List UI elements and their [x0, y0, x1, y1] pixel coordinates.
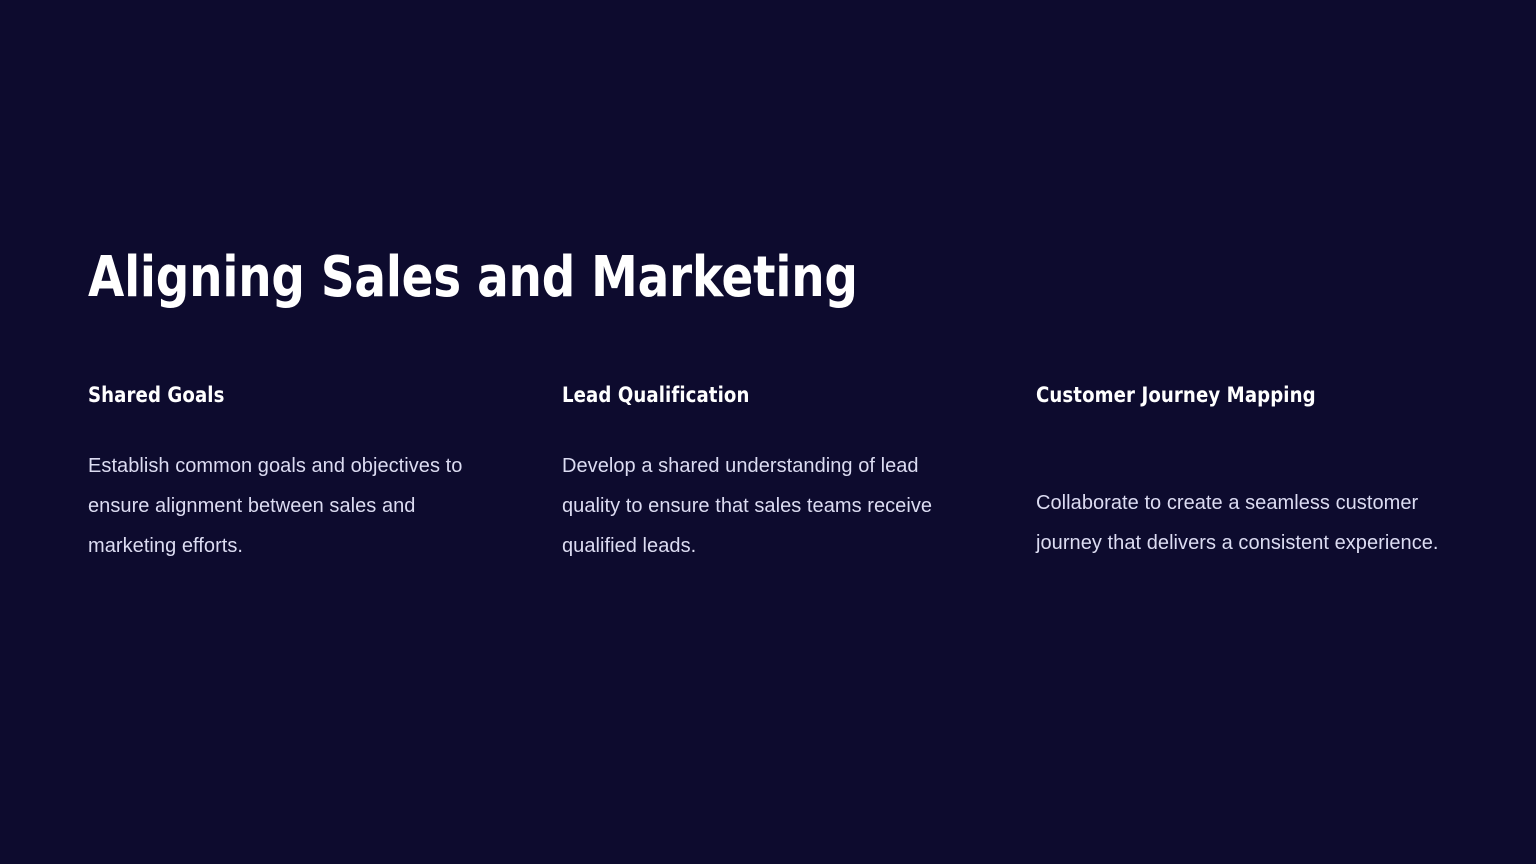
column-heading-shared-goals: Shared Goals	[88, 382, 482, 408]
column-body-lead-qualification: Develop a shared understanding of lead q…	[562, 446, 972, 566]
content-columns: Shared Goals Establish common goals and …	[88, 382, 1468, 566]
column-heading-customer-journey-mapping: Customer Journey Mapping	[1036, 382, 1430, 408]
column-body-shared-goals: Establish common goals and objectives to…	[88, 446, 498, 566]
column-body-customer-journey-mapping: Collaborate to create a seamless custome…	[1036, 483, 1446, 563]
content-column-lead-qualification: Lead Qualification Develop a shared unde…	[562, 382, 972, 566]
content-column-customer-journey-mapping: Customer Journey Mapping Collaborate to …	[1036, 382, 1446, 563]
page-title: Aligning Sales and Marketing	[88, 247, 858, 309]
column-heading-lead-qualification: Lead Qualification	[562, 382, 956, 408]
presentation-slide: Aligning Sales and Marketing Shared Goal…	[0, 0, 1536, 864]
content-column-shared-goals: Shared Goals Establish common goals and …	[88, 382, 498, 566]
